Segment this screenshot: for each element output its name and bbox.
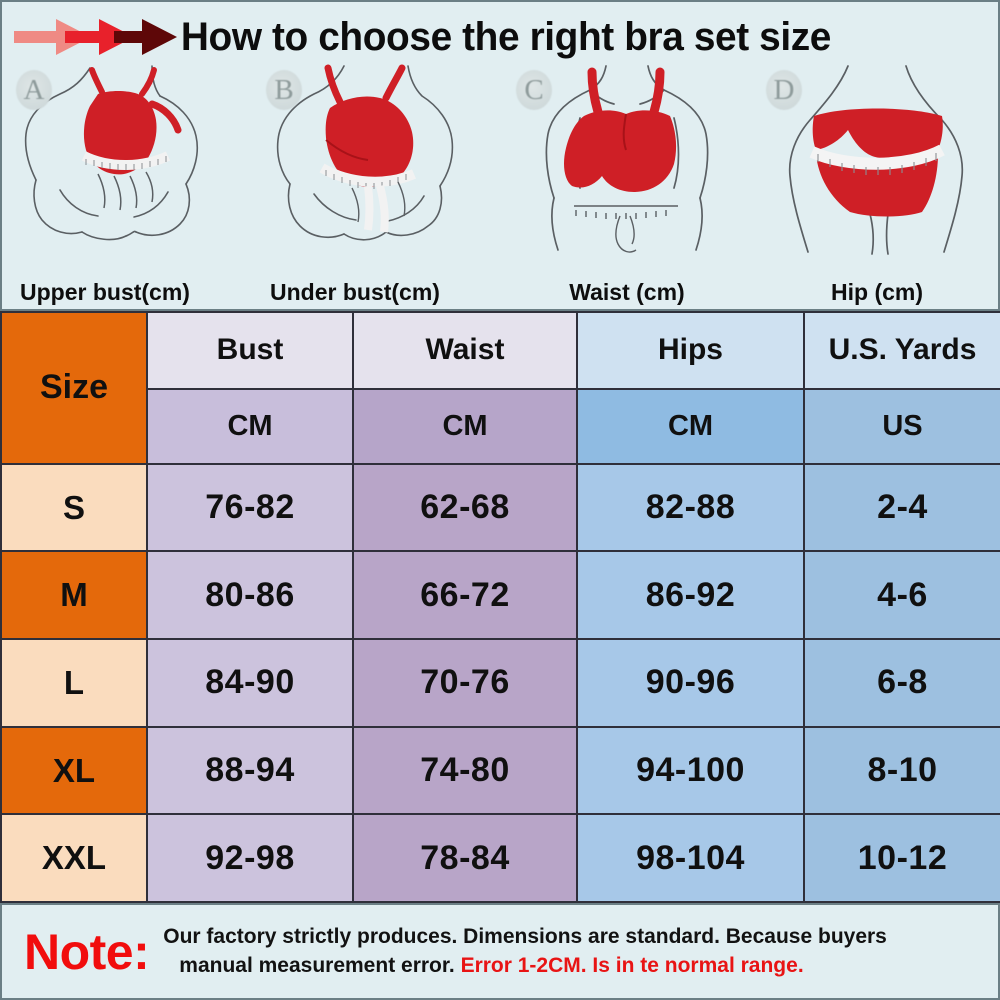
- arrow-group: [12, 15, 177, 59]
- panel-caption-under-bust: Under bust(cm): [252, 279, 520, 306]
- cell-us: 4-6: [804, 551, 1000, 639]
- header-us-unit: US: [804, 389, 1000, 464]
- table-row: XXL 92-98 78-84 98-104 10-12: [1, 814, 1000, 902]
- cell-bust: 84-90: [147, 639, 353, 727]
- panel-badge-b: B: [266, 70, 302, 110]
- table-row: XL 88-94 74-80 94-100 8-10: [1, 727, 1000, 815]
- panel-caption-upper-bust: Upper bust(cm): [2, 279, 270, 306]
- cell-bust: 88-94: [147, 727, 353, 815]
- size-chart-page: How to choose the right bra set size A: [0, 0, 1000, 1000]
- cell-waist: 78-84: [353, 814, 577, 902]
- note-band: Note: Our factory strictly produces. Dim…: [0, 903, 1000, 1000]
- cell-size: S: [1, 464, 147, 552]
- panel-caption-hip: Hip (cm): [752, 279, 1000, 306]
- note-line-2: manual measurement error. Error 1-2CM. I…: [161, 952, 984, 980]
- note-label: Note:: [2, 923, 161, 981]
- header-us-yards: U.S. Yards: [804, 312, 1000, 389]
- header-hips-unit: CM: [577, 389, 804, 464]
- table-row: S 76-82 62-68 82-88 2-4: [1, 464, 1000, 552]
- measure-panel-upper-bust: A: [2, 64, 252, 312]
- table-row: L 84-90 70-76 90-96 6-8: [1, 639, 1000, 727]
- note-line-1: Our factory strictly produces. Dimension…: [161, 923, 984, 951]
- header-hips: Hips: [577, 312, 804, 389]
- measure-panels: A: [2, 64, 1000, 312]
- size-table: Size Bust Waist Hips U.S. Yards CM CM CM…: [0, 311, 1000, 903]
- cell-waist: 74-80: [353, 727, 577, 815]
- cell-waist: 70-76: [353, 639, 577, 727]
- guide-band: How to choose the right bra set size A: [0, 0, 1000, 311]
- cell-bust: 80-86: [147, 551, 353, 639]
- cell-size: XXL: [1, 814, 147, 902]
- cell-size: M: [1, 551, 147, 639]
- cell-bust: 92-98: [147, 814, 353, 902]
- header-bust: Bust: [147, 312, 353, 389]
- page-title: How to choose the right bra set size: [177, 15, 977, 60]
- panel-badge-c: C: [516, 70, 552, 110]
- cell-hips: 98-104: [577, 814, 804, 902]
- note-line-2-red: Error 1-2CM. Is in te normal range.: [461, 954, 804, 977]
- measure-panel-under-bust: B: [252, 64, 502, 312]
- measure-panel-hip: D: [752, 64, 1000, 312]
- note-line-2-black: manual measurement error.: [179, 954, 454, 977]
- header-size: Size: [1, 312, 147, 464]
- cell-size: XL: [1, 727, 147, 815]
- cell-hips: 94-100: [577, 727, 804, 815]
- panel-badge-a: A: [16, 70, 52, 110]
- panel-badge-d: D: [766, 70, 802, 110]
- header-waist: Waist: [353, 312, 577, 389]
- header-bust-unit: CM: [147, 389, 353, 464]
- title-row: How to choose the right bra set size: [2, 8, 1000, 66]
- cell-us: 2-4: [804, 464, 1000, 552]
- cell-hips: 90-96: [577, 639, 804, 727]
- panel-caption-waist: Waist (cm): [502, 279, 752, 306]
- cell-us: 6-8: [804, 639, 1000, 727]
- cell-waist: 62-68: [353, 464, 577, 552]
- cell-us: 8-10: [804, 727, 1000, 815]
- table-row: M 80-86 66-72 86-92 4-6: [1, 551, 1000, 639]
- cell-hips: 86-92: [577, 551, 804, 639]
- measure-panel-waist: C: [502, 64, 752, 312]
- arrow-dark-icon: [100, 15, 178, 59]
- cell-hips: 82-88: [577, 464, 804, 552]
- cell-bust: 76-82: [147, 464, 353, 552]
- note-body: Our factory strictly produces. Dimension…: [161, 923, 998, 980]
- cell-size: L: [1, 639, 147, 727]
- table-header-row-2: CM CM CM US: [1, 389, 1000, 464]
- header-waist-unit: CM: [353, 389, 577, 464]
- cell-us: 10-12: [804, 814, 1000, 902]
- cell-waist: 66-72: [353, 551, 577, 639]
- table-header-row-1: Size Bust Waist Hips U.S. Yards: [1, 312, 1000, 389]
